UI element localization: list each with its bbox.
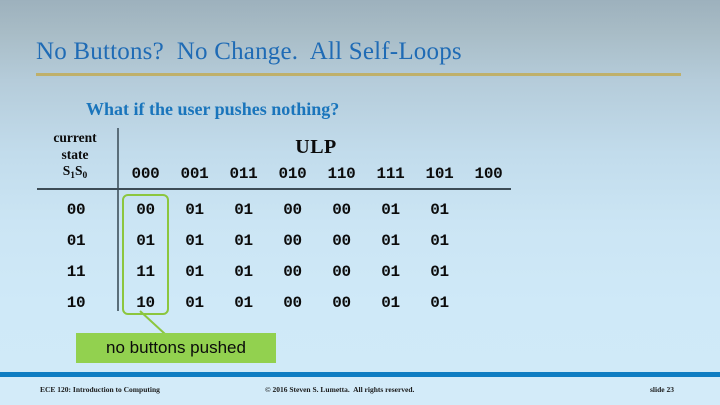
table-cell: 00 [121, 201, 170, 219]
title-divider [36, 73, 681, 76]
table-cell: 01 [121, 232, 170, 250]
table-cell: 01 [219, 263, 268, 281]
current-state-header: current state S1S0 [36, 130, 114, 185]
table-cell: 01 [219, 201, 268, 219]
column-header: 111 [366, 165, 415, 183]
current-state-line2: state [36, 147, 114, 164]
column-header: 001 [170, 165, 219, 183]
table-cell: 01 [415, 201, 464, 219]
ulp-group-header: ULP [121, 136, 511, 159]
table-header-rule [37, 188, 511, 190]
column-header: 000 [121, 165, 170, 183]
footer-copyright: © 2016 Steven S. Lumetta. All rights res… [265, 385, 414, 394]
row-state-label: 10 [36, 294, 116, 312]
table-cell: 01 [366, 232, 415, 250]
row-state-label: 00 [36, 201, 116, 219]
current-state-line1: current [36, 130, 114, 147]
table-cell: 01 [415, 232, 464, 250]
column-header: 010 [268, 165, 317, 183]
table-row: 11 11 01 01 00 00 01 01 [36, 256, 514, 287]
row-cells: 11 01 01 00 00 01 01 [121, 263, 464, 281]
column-header: 101 [415, 165, 464, 183]
row-cells: 00 01 01 00 00 01 01 [121, 201, 464, 219]
table-cell: 01 [170, 263, 219, 281]
table-cell: 00 [268, 232, 317, 250]
table-column-headers: 000 001 011 010 110 111 101 100 [121, 165, 515, 183]
table-cell: 00 [317, 232, 366, 250]
table-cell: 00 [268, 201, 317, 219]
current-state-vars: S1S0 [36, 163, 114, 185]
column-header: 100 [464, 165, 513, 183]
callout-label: no buttons pushed [106, 338, 246, 358]
table-cell: 01 [219, 294, 268, 312]
table-body: 00 00 01 01 00 00 01 01 01 01 01 01 00 [36, 194, 514, 318]
table-cell: 00 [268, 294, 317, 312]
state-var-s0-sub: 0 [83, 171, 88, 181]
table-cell: 01 [170, 201, 219, 219]
table-cell: 00 [317, 263, 366, 281]
table-cell: 11 [121, 263, 170, 281]
table-cell: 00 [268, 263, 317, 281]
table-row: 10 10 01 01 00 00 01 01 [36, 287, 514, 318]
page-title: No Buttons? No Change. All Self-Loops [36, 38, 462, 66]
table-cell: 00 [317, 294, 366, 312]
table-cell: 01 [415, 294, 464, 312]
callout-box: no buttons pushed [76, 333, 276, 363]
row-state-label: 01 [36, 232, 116, 250]
row-cells: 01 01 01 00 00 01 01 [121, 232, 464, 250]
state-var-s0: S [75, 163, 83, 178]
table-row: 00 00 01 01 00 00 01 01 [36, 194, 514, 225]
row-state-label: 11 [36, 263, 116, 281]
column-header: 011 [219, 165, 268, 183]
table-cell: 01 [170, 232, 219, 250]
table-cell: 01 [415, 263, 464, 281]
slide-subtitle: What if the user pushes nothing? [86, 99, 339, 120]
slide-canvas: No Buttons? No Change. All Self-Loops Wh… [0, 0, 720, 405]
column-header: 110 [317, 165, 366, 183]
slide-footer: ECE 120: Introduction to Computing © 201… [0, 377, 720, 405]
table-cell: 01 [219, 232, 268, 250]
table-cell: 01 [366, 263, 415, 281]
table-cell: 01 [366, 201, 415, 219]
table-cell: 00 [317, 201, 366, 219]
table-cell: 01 [366, 294, 415, 312]
footer-course: ECE 120: Introduction to Computing [40, 385, 160, 394]
transition-table: current state S1S0 ULP 000 001 011 010 1… [36, 128, 516, 318]
footer-slide-number: slide 23 [650, 385, 674, 394]
table-row: 01 01 01 01 00 00 01 01 [36, 225, 514, 256]
